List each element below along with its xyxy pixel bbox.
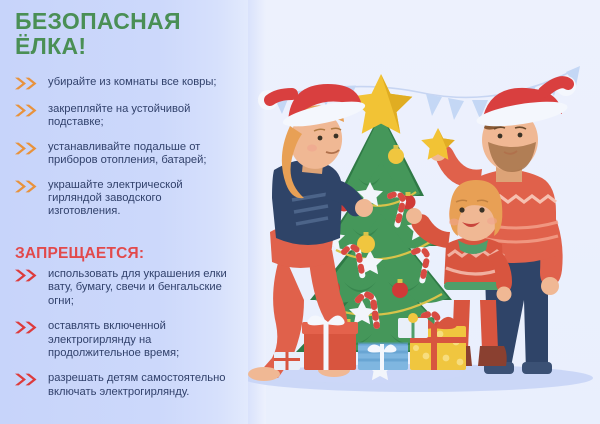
rule-text: использовать для украшения елки вату, бу…: [48, 268, 240, 308]
child-boot-right: [478, 346, 507, 366]
rule-text: разрешать детям самостоятельно включать …: [48, 372, 240, 399]
allowed-rules-list: убирайте из комнаты все ковры; закрепляй…: [0, 76, 240, 230]
woman-sweater: [272, 160, 342, 245]
double-chevron-icon: [14, 180, 42, 193]
rule-text: устанавливайте подальше от приборов отоп…: [48, 141, 240, 168]
double-chevron-icon: [14, 77, 42, 90]
list-item: оставлять включенной электрогирлянду на …: [0, 320, 240, 360]
gift-red: [304, 330, 356, 370]
rule-text: закрепляйте на устойчивой подставке;: [48, 103, 240, 130]
double-chevron-icon: [14, 321, 42, 334]
panel-fade: [248, 0, 266, 424]
text-panel-inner: БЕЗОПАСНАЯ ЁЛКА! убирайте из комнаты все…: [0, 0, 252, 424]
poster-canvas: БЕЗОПАСНАЯ ЁЛКА! убирайте из комнаты все…: [0, 0, 600, 424]
forbidden-rules-list: использовать для украшения елки вату, бу…: [0, 268, 240, 411]
illustration-family-decorating-tree: [248, 0, 600, 424]
double-chevron-icon: [14, 269, 42, 282]
double-chevron-icon: [14, 104, 42, 117]
rule-text: убирайте из комнаты все ковры;: [48, 76, 240, 89]
woman-hand: [355, 199, 373, 217]
list-item: устанавливайте подальше от приборов отоп…: [0, 141, 240, 168]
list-item: украшайте электрической гирляндой заводс…: [0, 179, 240, 219]
child-sweater-hem: [444, 282, 504, 290]
list-item: использовать для украшения елки вату, бу…: [0, 268, 240, 308]
text-panel: БЕЗОПАСНАЯ ЁЛКА! убирайте из комнаты все…: [0, 0, 252, 424]
double-chevron-icon: [14, 373, 42, 386]
list-item: убирайте из комнаты все ковры;: [0, 76, 240, 92]
man-hand-right: [541, 277, 559, 295]
forbidden-section-heading: ЗАПРЕЩАЕТСЯ:: [15, 245, 144, 263]
list-item: разрешать детям самостоятельно включать …: [0, 372, 240, 399]
list-item: закрепляйте на устойчивой подставке;: [0, 103, 240, 130]
rule-text: украшайте электрической гирляндой заводс…: [48, 179, 240, 219]
rule-text: оставлять включенной электрогирлянду на …: [48, 320, 240, 360]
double-chevron-icon: [14, 142, 42, 155]
page-title: БЕЗОПАСНАЯ ЁЛКА!: [15, 9, 245, 59]
